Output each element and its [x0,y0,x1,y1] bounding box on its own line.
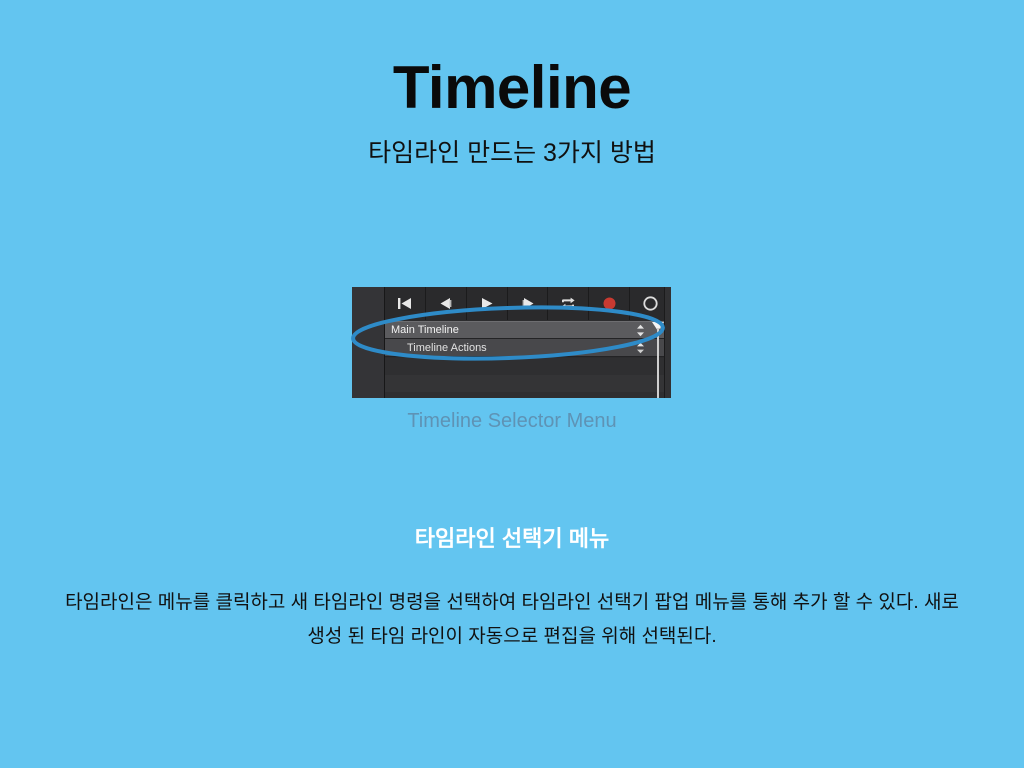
track-row[interactable] [385,392,671,398]
panel-right-edge [664,287,671,398]
timeline-selector-actions[interactable]: Timeline Actions [385,339,671,357]
body-paragraph: 타임라인은 메뉴를 클릭하고 새 타임라인 명령을 선택하여 타임라인 선택기 … [62,586,962,654]
loop-icon [559,296,577,311]
timeline-selector-actions-label: Timeline Actions [385,342,487,354]
figure-caption: Timeline Selector Menu [0,410,1024,433]
loop-button[interactable] [548,287,589,320]
record-button[interactable] [589,287,630,320]
circle-icon [642,296,659,311]
go-to-start-button[interactable] [385,287,426,320]
play-icon [478,296,495,311]
step-backward-button[interactable] [426,287,467,320]
step-forward-icon [519,296,537,311]
section-heading: 타임라인 선택기 메뉴 [0,521,1024,553]
timeline-panel: Main Timeline Timeline Actions [352,287,671,398]
record-icon [602,296,617,311]
track-row[interactable] [385,358,671,375]
chevron-updown-icon[interactable] [636,324,645,337]
step-backward-icon [437,296,455,311]
timeline-selector-main-label: Main Timeline [385,324,459,336]
playhead[interactable]: 0 [652,320,664,398]
screenshot-figure: Main Timeline Timeline Actions [352,287,671,398]
skip-to-start-icon [396,296,413,311]
panel-left-gutter [352,287,385,398]
track-row[interactable] [385,375,671,392]
transport-toolbar [385,287,671,320]
playhead-line [657,328,659,398]
chevron-updown-icon[interactable] [636,342,645,354]
page-title: Timeline [0,55,1024,121]
timeline-selector-main[interactable]: Main Timeline [385,321,671,339]
step-forward-button[interactable] [508,287,549,320]
play-button[interactable] [467,287,508,320]
page-subtitle: 타임라인 만드는 3가지 방법 [0,133,1024,169]
